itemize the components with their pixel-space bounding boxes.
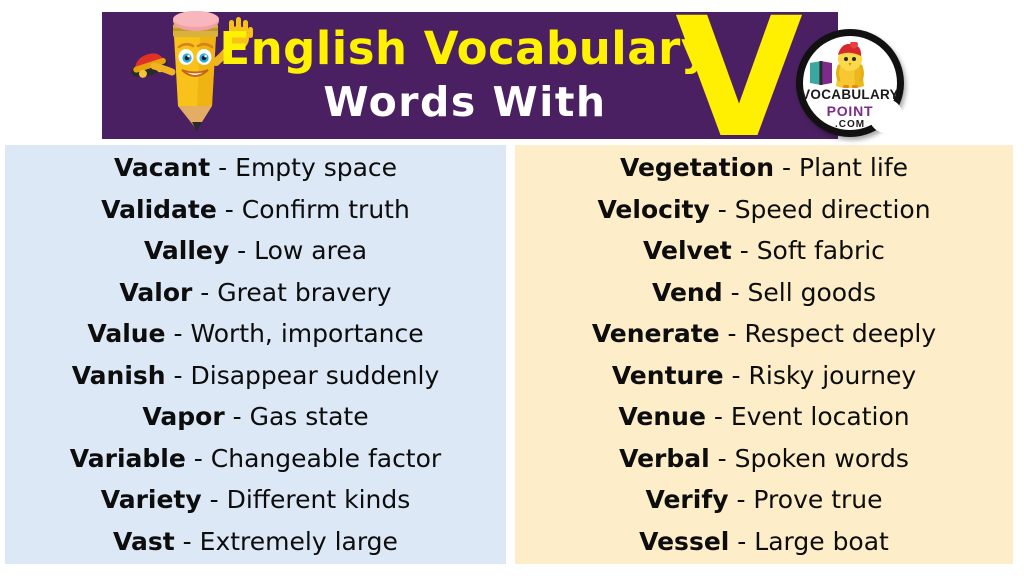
vocabulary-term: Valor [119, 278, 192, 307]
vocabulary-entry: Valley - Low area [144, 230, 367, 272]
vocabulary-definition: Different kinds [227, 485, 411, 514]
vocabulary-separator: - [225, 402, 250, 431]
vocabulary-term: Verify [645, 485, 728, 514]
vocabulary-entry: Vacant - Empty space [114, 147, 397, 189]
vocabulary-entry: Venue - Event location [618, 396, 909, 438]
vocabulary-definition: Sell goods [748, 278, 876, 307]
vocabulary-term: Vanish [72, 361, 166, 390]
vocabulary-term: Velvet [643, 236, 732, 265]
vocabulary-separator: - [774, 153, 799, 182]
vocabulary-definition: Speed direction [735, 195, 931, 224]
vocabulary-term: Verbal [619, 444, 710, 473]
vocabulary-entry: Venerate - Respect deeply [592, 313, 936, 355]
vocabulary-entry: Valor - Great bravery [119, 272, 391, 314]
vocabulary-separator: - [720, 319, 745, 348]
vocabulary-definition: Gas state [250, 402, 369, 431]
vocabulary-separator: - [732, 236, 757, 265]
vocabulary-entry: Vessel - Large boat [639, 521, 889, 563]
vocabulary-entry: Velvet - Soft fabric [643, 230, 885, 272]
vocabulary-term: Vend [652, 278, 723, 307]
vocabulary-term: Venerate [592, 319, 720, 348]
vocabulary-definition: Large boat [754, 527, 889, 556]
vocabulary-entry: Vast - Extremely large [113, 521, 398, 563]
vocabulary-definition: Empty space [235, 153, 397, 182]
word-list-right: Vegetation - Plant lifeVelocity - Speed … [515, 145, 1013, 564]
vocabulary-entry: Vapor - Gas state [142, 396, 368, 438]
vocabulary-definition: Extremely large [200, 527, 398, 556]
vocabulary-separator: - [729, 485, 754, 514]
title-line-2: Words With [323, 76, 606, 128]
vocabulary-definition: Great bravery [217, 278, 391, 307]
vocabulary-term: Variety [101, 485, 202, 514]
vocabulary-entry: Verbal - Spoken words [619, 438, 909, 480]
logo-brand-line-1: VOCABULARY [796, 87, 904, 102]
vocabulary-entry: Venture - Risky journey [612, 355, 916, 397]
page-title: English Vocabulary Words With [250, 14, 680, 136]
vocabulary-entry: Vend - Sell goods [652, 272, 876, 314]
vocabulary-definition: Respect deeply [745, 319, 937, 348]
vocabulary-definition: Spoken words [735, 444, 909, 473]
vocabulary-separator: - [186, 444, 211, 473]
vocabulary-separator: - [166, 361, 191, 390]
vocabulary-separator: - [723, 278, 748, 307]
brand-logo[interactable]: VOCABULARY POINT .COM [796, 29, 904, 137]
vocabulary-separator: - [710, 444, 735, 473]
vocabulary-entry: Validate - Confirm truth [101, 189, 410, 231]
vocabulary-separator: - [710, 195, 735, 224]
vocabulary-term: Vapor [142, 402, 224, 431]
vocabulary-term: Valley [144, 236, 229, 265]
vocabulary-definition: Risky journey [749, 361, 917, 390]
vocabulary-definition: Plant life [799, 153, 908, 182]
vocabulary-separator: - [166, 319, 191, 348]
vocabulary-term: Validate [101, 195, 217, 224]
vocabulary-term: Vacant [114, 153, 210, 182]
vocabulary-separator: - [192, 278, 217, 307]
vocabulary-separator: - [706, 402, 731, 431]
vocabulary-definition: Prove true [753, 485, 882, 514]
vocabulary-separator: - [724, 361, 749, 390]
vocabulary-entry: Velocity - Speed direction [597, 189, 930, 231]
vocabulary-term: Vegetation [620, 153, 774, 182]
vocabulary-separator: - [202, 485, 227, 514]
vocabulary-definition: Event location [731, 402, 910, 431]
vocabulary-term: Value [87, 319, 165, 348]
logo-brand-line-3: .COM [796, 119, 904, 130]
vocabulary-definition: Worth, importance [190, 319, 423, 348]
vocabulary-definition: Confirm truth [242, 195, 410, 224]
vocabulary-entry: Variety - Different kinds [101, 479, 411, 521]
vocabulary-separator: - [175, 527, 200, 556]
vocabulary-entry: Vegetation - Plant life [620, 147, 908, 189]
vocabulary-term: Velocity [597, 195, 709, 224]
vocabulary-separator: - [729, 527, 754, 556]
vocabulary-term: Venture [612, 361, 724, 390]
vocabulary-entry: Vanish - Disappear suddenly [72, 355, 440, 397]
vocabulary-separator: - [229, 236, 254, 265]
title-line-1: English Vocabulary [219, 22, 710, 76]
vocabulary-definition: Soft fabric [757, 236, 885, 265]
vocabulary-separator: - [217, 195, 242, 224]
vocabulary-entry: Verify - Prove true [645, 479, 882, 521]
vocabulary-entry: Value - Worth, importance [87, 313, 423, 355]
logo-brand-line-2: POINT [796, 103, 904, 119]
vocabulary-term: Vast [113, 527, 175, 556]
vocabulary-definition: Low area [254, 236, 367, 265]
word-list-left: Vacant - Empty spaceValidate - Confirm t… [5, 145, 506, 564]
chick-with-cap-icon [826, 42, 874, 88]
vocabulary-separator: - [210, 153, 235, 182]
vocabulary-entry: Variable - Changeable factor [70, 438, 441, 480]
vocabulary-term: Vessel [639, 527, 729, 556]
vocabulary-definition: Changeable factor [211, 444, 441, 473]
vocabulary-definition: Disappear suddenly [191, 361, 440, 390]
big-letter-v: V [672, 0, 802, 161]
vocabulary-term: Variable [70, 444, 186, 473]
vocabulary-term: Venue [618, 402, 706, 431]
